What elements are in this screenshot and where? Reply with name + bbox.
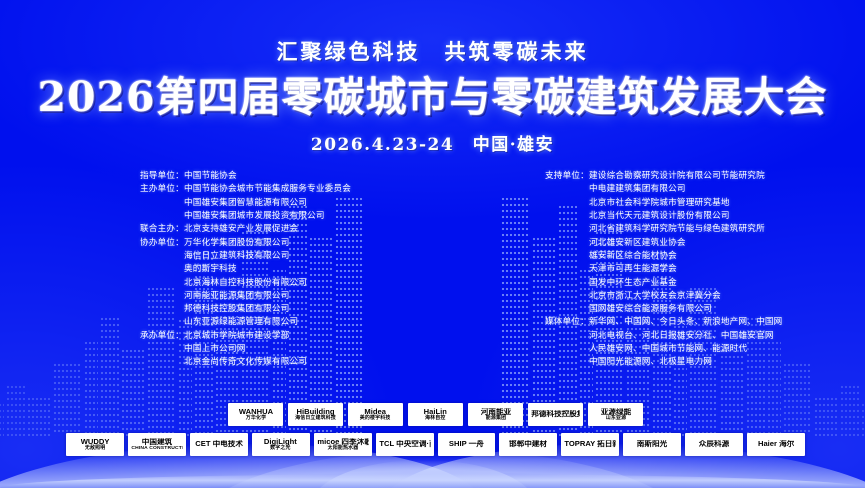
credit-label: 主办单位： [140,182,184,195]
credit-value: 国网雄安综合能源服务有限公司 [589,302,835,315]
sponsor-logo-wuddy[interactable]: WUDDY无敌照明 [66,433,124,456]
sponsor-logo-ship[interactable]: SHIP 一舟 [438,433,496,456]
credit-value: 河北省建筑科学研究院节能与绿色建筑研究所 [589,222,835,235]
credit-value: 奥的斯宇科技 [184,262,470,275]
credit-value-list: 万华化学集团股份有限公司海信日立建筑科技有限公司奥的斯宇科技北京海林自控科技股份… [184,236,470,329]
sponsor-logo-text: TCL 中央空调·商用 [379,441,430,449]
sponsor-logo-text: HiBuilding海信日立建筑科技 [295,408,336,421]
skyline-building [814,396,838,436]
sponsor-logo-digilight[interactable]: DigiLight数字之光 [252,433,310,456]
skyline-building [0,402,4,436]
sponsor-logo-row-1: WANHUA万华化学HiBuilding海信日立建筑科技Midea美的楼宇科技H… [228,403,643,426]
sponsor-logo-text: SHIP 一舟 [449,441,484,449]
sponsor-logo-midea[interactable]: Midea美的楼宇科技 [348,403,403,426]
sponsor-logo-text: 河南能亚能源集团 [480,408,510,421]
skyline-building [783,362,812,436]
credits-column-left: 指导单位：中国节能协会主办单位：中国节能协会城市节能集成服务专业委员会中国雄安集… [140,169,470,368]
sponsor-logo-text: 亚源绿能山东亚源 [600,408,630,421]
credit-value: 新华网、中国网、今日头条、新浪地产网、中国网 [589,315,835,328]
sponsor-logo-row-2: WUDDY无敌照明中国建筑CHINA CONSTRUCTIONCET 中电技术D… [66,433,805,456]
credit-value: 北京市浙江大学校友会京津冀分会 [589,289,835,302]
sponsor-logo-text: WANHUA万华化学 [238,408,272,421]
credit-value-list: 中国节能协会 [184,169,470,182]
skyline-building [53,362,82,436]
credit-label: 协办单位： [140,236,184,249]
sponsor-logo-text: DigiLight数字之光 [264,438,297,451]
poster-main-title: 2026第四届零碳城市与零碳建筑发展大会 [0,74,865,121]
sponsor-logo-subtext: 美的楼宇科技 [360,416,391,421]
sponsor-logo-text: HaiLin海林自控 [424,408,447,421]
credit-value: 中国上市公司网 [184,342,470,355]
credit-value: 中国节能协会城市节能集成服务专业委员会 [184,182,470,195]
skyline-building [840,384,859,436]
credit-value-list: 新华网、中国网、今日头条、新浪地产网、中国网河北电视台、河北日报雄安分社、中国雄… [589,315,835,368]
sponsor-logo-handan-zhongjiancai[interactable]: 邯郸中建材 [499,433,557,456]
sponsor-logo-cet[interactable]: CET 中电技术 [190,433,248,456]
sponsor-logo-subtext: 数字之光 [264,446,297,451]
credit-value: 河北电视台、河北日报雄安分社、中国雄安官网 [589,329,835,342]
credit-label: 指导单位： [140,169,184,182]
credit-value: 万华化学集团股份有限公司 [184,236,470,249]
sponsor-logo-text: micoe 四季沐歌太阳能热水器 [317,438,368,451]
sponsor-logo-tcl[interactable]: TCL 中央空调·商用 [376,433,434,456]
poster-header: 汇聚绿色科技 共筑零碳未来 2026第四届零碳城市与零碳建筑发展大会 2026.… [0,0,865,155]
credit-block: 协办单位：万华化学集团股份有限公司海信日立建筑科技有限公司奥的斯宇科技北京海林自… [140,236,470,329]
sponsor-logo-subtext: CHINA CONSTRUCTION [131,446,182,451]
credit-label: 支持单位： [545,169,589,182]
sponsor-logo-micoe[interactable]: micoe 四季沐歌太阳能热水器 [314,433,372,456]
credit-value: 河北雄安新区建筑业协会 [589,236,835,249]
sponsor-logo-subtext: 能源集团 [480,416,510,421]
sponsor-logo-topray[interactable]: TOPRAY 拓日新能 [561,433,619,456]
credit-block: 联合主办：北京支持雄安产业发展促进会 [140,222,470,235]
credit-value: 北京当代天元建筑设计股份有限公司 [589,209,835,222]
sponsor-logo-text: Midea美的楼宇科技 [360,408,391,421]
credit-value: 中国雄安集团城市发展投资有限公司 [184,209,470,222]
credit-block: 媒体单位：新华网、中国网、今日头条、新浪地产网、中国网河北电视台、河北日报雄安分… [545,315,835,368]
sponsor-logo-haier[interactable]: Haier 海尔 [747,433,805,456]
sponsor-logo-subtext: 无敌照明 [81,446,110,451]
credits-section: 指导单位：中国节能协会主办单位：中国节能协会城市节能集成服务专业委员会中国雄安集… [0,155,865,368]
sponsor-logo-hibuilding[interactable]: HiBuilding海信日立建筑科技 [288,403,343,426]
sponsor-logo-text: TOPRAY 拓日新能 [565,441,616,449]
credit-value: 北京市社会科学院城市管理研究基地 [589,196,835,209]
conference-poster: 汇聚绿色科技 共筑零碳未来 2026第四届零碳城市与零碳建筑发展大会 2026.… [0,0,865,488]
sponsor-logo-text: CET 中电技术 [195,441,243,449]
skyline-building [27,396,51,436]
credit-value: 中国节能协会 [184,169,470,182]
sponsor-logo-subtext: 万华化学 [238,416,272,421]
credit-value: 人民雄安网、中国城市节能网、能源时代 [589,342,835,355]
sponsor-logo-text: 南斯阳光 [637,441,667,449]
sponsor-logo-subtext: 海林自控 [424,416,447,421]
credit-block: 主办单位：中国节能协会城市节能集成服务专业委员会中国雄安集团智慧能源有限公司中国… [140,182,470,222]
sponsor-logo-subtext: 海信日立建筑科技 [295,416,336,421]
sponsor-logo-text: WUDDY无敌照明 [81,438,110,451]
credit-block: 支持单位：建设综合勘察研究设计院有限公司节能研究院中电建建筑集团有限公司北京市社… [545,169,835,315]
credit-label: 联合主办： [140,222,184,235]
credit-value: 河南能亚能源集团有限公司 [184,289,470,302]
sponsor-logo-subtext: 太阳能热水器 [317,446,368,451]
sponsor-logo-wanhua[interactable]: WANHUA万华化学 [228,403,283,426]
credits-column-right: 支持单位：建设综合勘察研究设计院有限公司节能研究院中电建建筑集团有限公司北京市社… [535,169,835,368]
sponsor-logo-nengya[interactable]: 河南能亚能源集团 [468,403,523,426]
skyline-building [6,384,25,436]
poster-date-location: 2026.4.23-24 中国·雄安 [0,130,865,155]
credit-value: 邦德科技控股集团有限公司 [184,302,470,315]
sponsor-logo-text: 邯郸中建材 [509,441,547,449]
credit-value: 中电建建筑集团有限公司 [589,182,835,195]
skyline-building [861,402,865,436]
credit-block: 承办单位：北京城市学院城市建设学部中国上市公司网北京金尚传奇文化传媒有限公司 [140,329,470,369]
credit-value: 建设综合勘察研究设计院有限公司节能研究院 [589,169,835,182]
sponsor-logo-nanshi-yangguang[interactable]: 南斯阳光 [623,433,681,456]
sponsor-logo-bangde[interactable]: 邦德科技控股集团 [528,403,583,426]
credit-value: 北京城市学院城市建设学部 [184,329,470,342]
sponsor-logo-text: 众辰科源 [699,441,729,449]
credit-value: 山东亚源绿能源管理有限公司 [184,315,470,328]
credit-label: 媒体单位： [545,315,589,328]
sponsor-logo-text: Haier 海尔 [758,441,794,449]
credit-value: 北京海林自控科技股份有限公司 [184,276,470,289]
sponsor-logo-subtext: 山东亚源 [600,416,630,421]
credit-value: 北京支持雄安产业发展促进会 [184,222,470,235]
sponsor-logo-text: 中国建筑CHINA CONSTRUCTION [131,438,182,451]
sponsor-logo-zhongguo-jianzhu[interactable]: 中国建筑CHINA CONSTRUCTION [128,433,186,456]
credit-value-list: 北京城市学院城市建设学部中国上市公司网北京金尚传奇文化传媒有限公司 [184,329,470,369]
credit-label: 承办单位： [140,329,184,342]
credit-value: 国发中环生态产业基金 [589,276,835,289]
credit-value-list: 北京支持雄安产业发展促进会 [184,222,470,235]
credit-block: 指导单位：中国节能协会 [140,169,470,182]
credit-value: 中国雄安集团智慧能源有限公司 [184,196,470,209]
sponsor-logo-text: 邦德科技控股集团 [531,411,579,419]
credit-value: 天津市可再生能源学会 [589,262,835,275]
credit-value: 北京金尚传奇文化传媒有限公司 [184,355,470,368]
credit-value: 海信日立建筑科技有限公司 [184,249,470,262]
sponsor-logo-yayuan[interactable]: 亚源绿能山东亚源 [588,403,643,426]
credit-value-list: 中国节能协会城市节能集成服务专业委员会中国雄安集团智慧能源有限公司中国雄安集团城… [184,182,470,222]
sponsor-logo-zhongchen-keyuan[interactable]: 众辰科源 [685,433,743,456]
poster-slogan: 汇聚绿色科技 共筑零碳未来 [0,36,865,66]
sponsor-logo-hailin[interactable]: HaiLin海林自控 [408,403,463,426]
credit-value-list: 建设综合勘察研究设计院有限公司节能研究院中电建建筑集团有限公司北京市社会科学院城… [589,169,835,315]
credit-value: 中国阳光能源网、北极星电力网 [589,355,835,368]
credit-value: 雄安新区综合能材协会 [589,249,835,262]
